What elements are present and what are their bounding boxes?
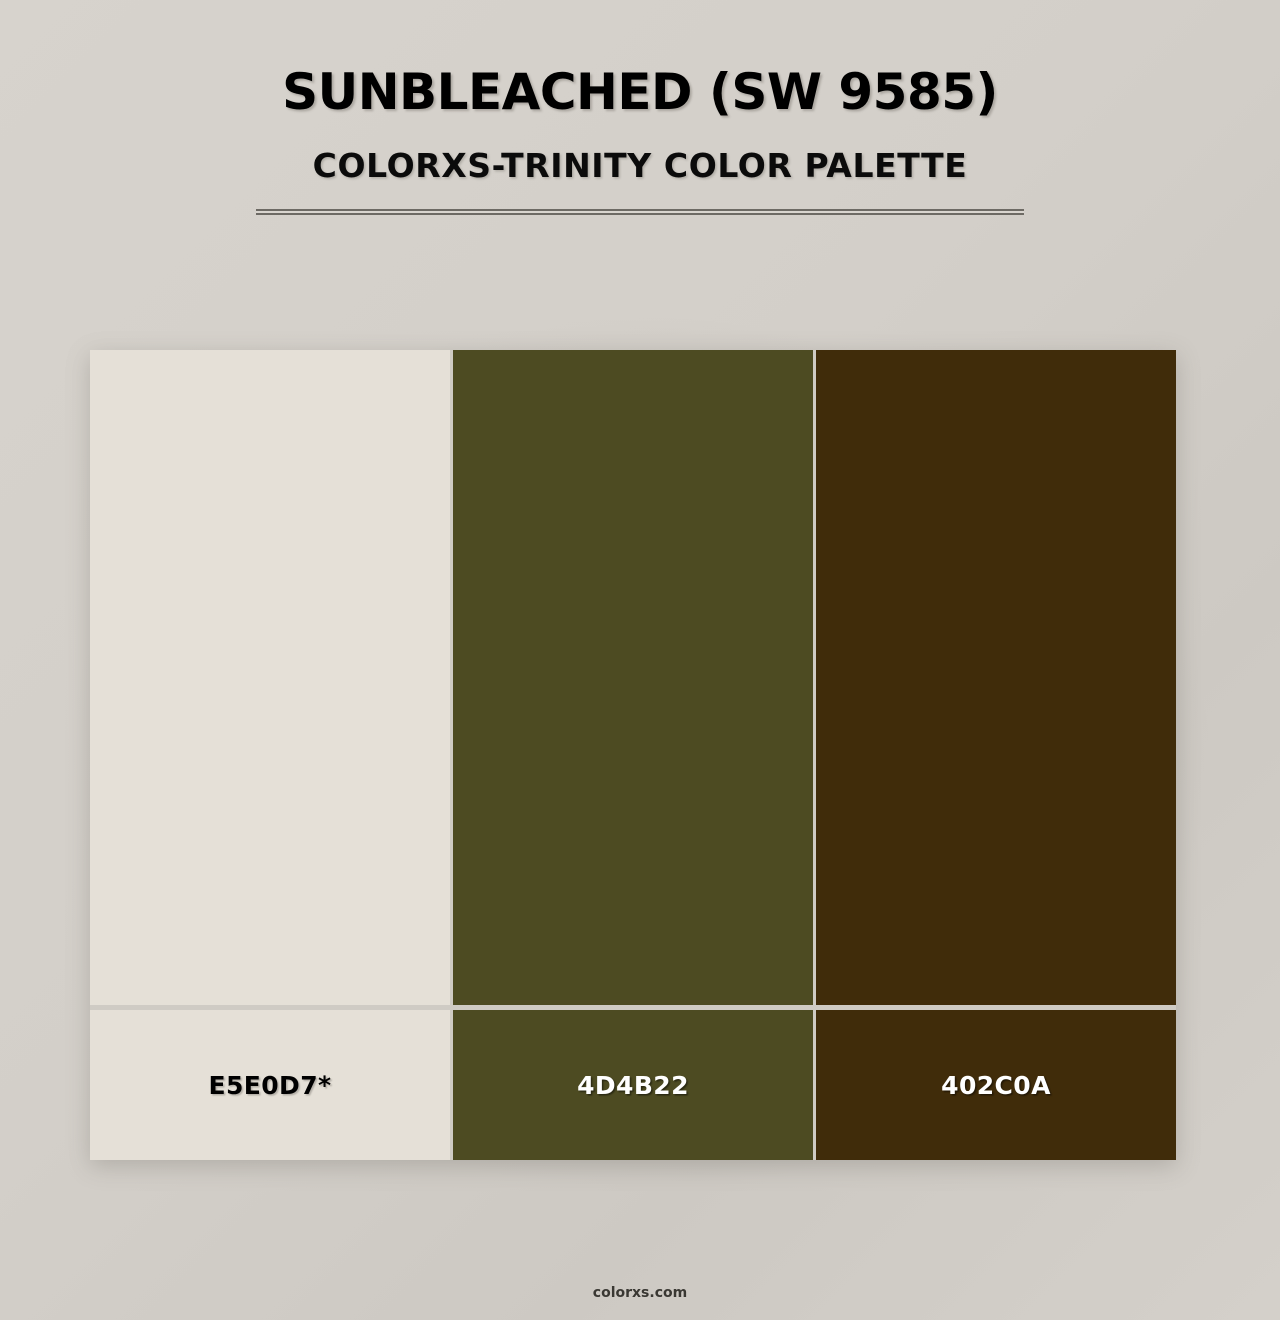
page-title: SUNBLEACHED (SW 9585) bbox=[0, 66, 1280, 119]
color-palette-card: E5E0D7* 4D4B22 402C0A bbox=[90, 350, 1176, 1160]
header-divider-wrapper bbox=[256, 209, 1024, 215]
color-label-cell[interactable]: E5E0D7* bbox=[90, 1010, 450, 1160]
hex-code-label: 402C0A bbox=[941, 1071, 1051, 1100]
label-row: E5E0D7* 4D4B22 402C0A bbox=[90, 1005, 1176, 1160]
color-swatch[interactable] bbox=[90, 350, 450, 1005]
page-header: SUNBLEACHED (SW 9585) COLORXS-TRINITY CO… bbox=[0, 0, 1280, 215]
color-label-cell[interactable]: 4D4B22 bbox=[450, 1010, 813, 1160]
footer-site-label: colorxs.com bbox=[0, 1285, 1280, 1301]
swatch-row bbox=[90, 350, 1176, 1005]
hex-code-label: E5E0D7* bbox=[209, 1071, 332, 1100]
hex-code-label: 4D4B22 bbox=[577, 1071, 689, 1100]
color-label-cell[interactable]: 402C0A bbox=[813, 1010, 1176, 1160]
color-swatch[interactable] bbox=[813, 350, 1176, 1005]
color-swatch[interactable] bbox=[450, 350, 813, 1005]
header-divider bbox=[256, 209, 1024, 215]
page-subtitle: COLORXS-TRINITY COLOR PALETTE bbox=[0, 149, 1280, 184]
